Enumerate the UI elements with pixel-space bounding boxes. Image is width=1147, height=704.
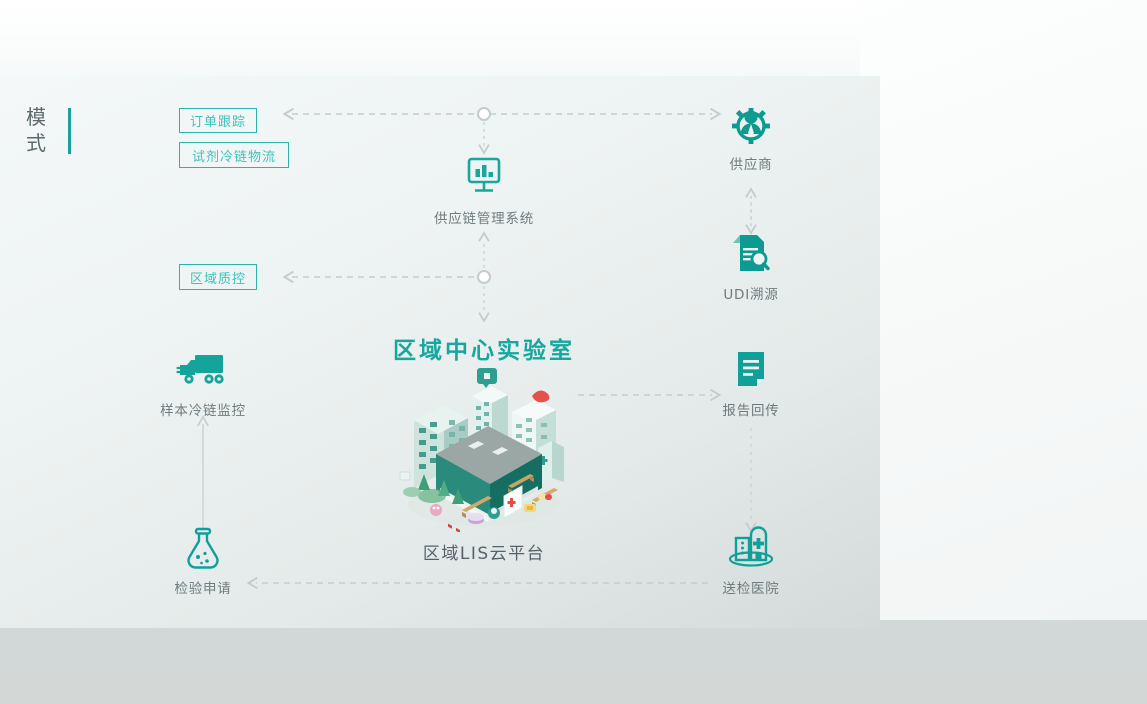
node-label: 检验申请 bbox=[163, 577, 243, 597]
node-label: 供应商 bbox=[711, 153, 791, 173]
slide-canvas: 模式 订单跟踪 试剂冷链物流 区域质控 supplier --> bbox=[0, 0, 1147, 704]
supplier-person-gear-icon bbox=[711, 101, 791, 147]
node-label: 样本冷链监控 bbox=[143, 399, 263, 419]
connector-node-dot-middle bbox=[477, 270, 491, 284]
connector-node-dot-top bbox=[477, 107, 491, 121]
node-label: 送检医院 bbox=[711, 577, 791, 597]
page-title: 区域中心实验室 bbox=[0, 331, 968, 365]
node-label: UDI溯源 bbox=[703, 283, 799, 303]
node-label: 报告回传 bbox=[711, 399, 791, 419]
background-bottom-band bbox=[0, 620, 1147, 704]
regional-lab-campus-illustration bbox=[396, 368, 572, 532]
document-search-icon bbox=[703, 231, 799, 277]
node-supplier[interactable]: 供应商 bbox=[711, 101, 791, 173]
node-supply-chain-management-system[interactable]: 供应链管理系统 bbox=[424, 155, 544, 227]
monitor-chart-icon bbox=[424, 155, 544, 201]
node-label: 供应链管理系统 bbox=[424, 207, 544, 227]
center-caption: 区域LIS云平台 bbox=[0, 539, 968, 564]
node-udi-traceability[interactable]: UDI溯源 bbox=[703, 231, 799, 303]
